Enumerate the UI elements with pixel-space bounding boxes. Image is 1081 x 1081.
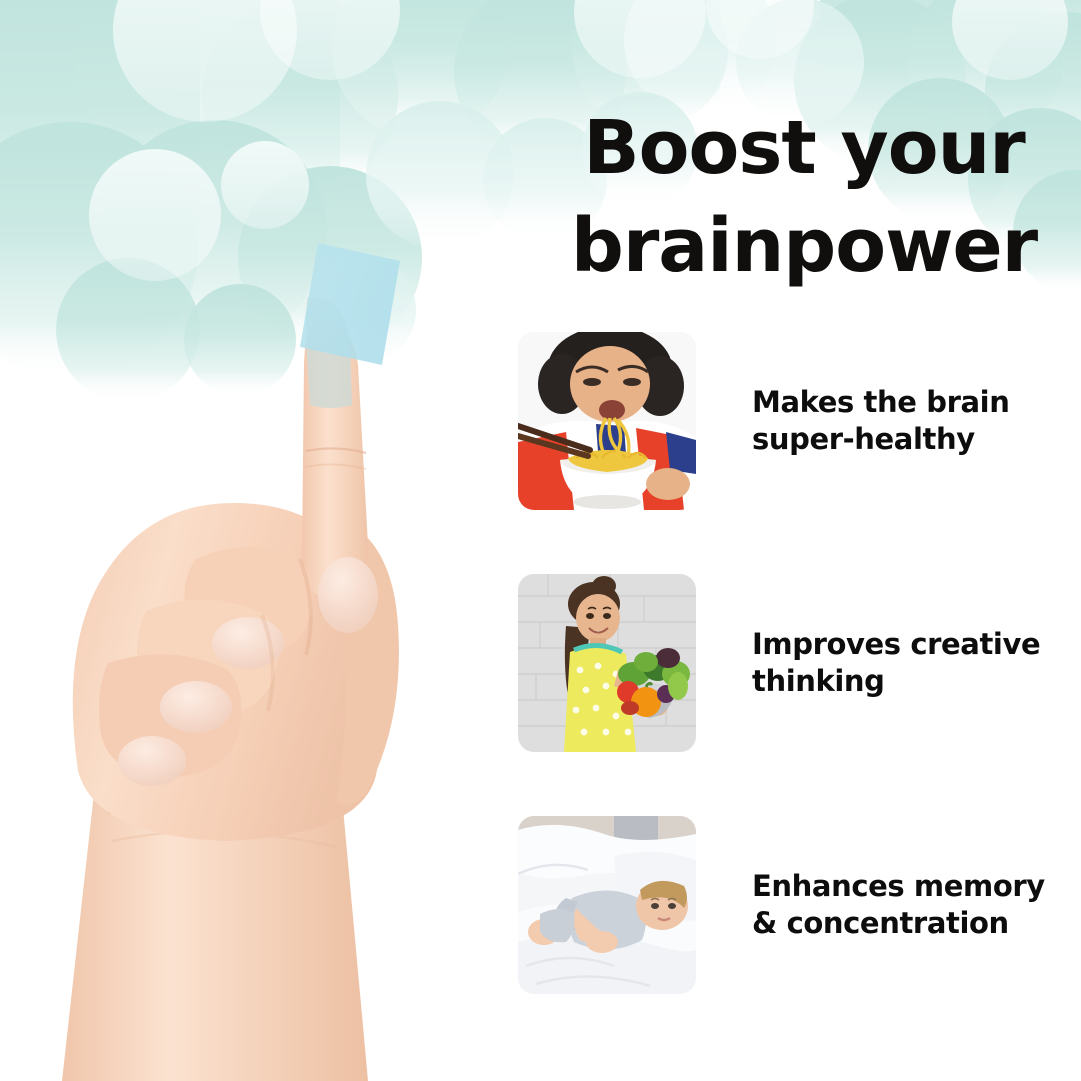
vegetables-photo-svg — [518, 574, 696, 752]
child-resting-in-bed-photo — [518, 816, 696, 994]
page-title: Boost your brainpower — [534, 100, 1074, 295]
poster-canvas: Boost your brainpower — [0, 0, 1081, 1081]
benefit-label-creative-thinking: Improves creative thinking — [752, 626, 1081, 700]
child-eating-noodles-photo — [518, 332, 696, 510]
benefit-label-memory-concentration: Enhances memory & concentration — [752, 868, 1081, 942]
content-column: Boost your brainpower — [518, 0, 1081, 1081]
benefit-item-brain-health: Makes the brain super-healthy — [518, 332, 1081, 510]
benefit-label-brain-health: Makes the brain super-healthy — [752, 384, 1081, 458]
hand-photo-svg — [0, 215, 470, 1081]
benefit-item-creative-thinking: Improves creative thinking — [518, 574, 1081, 752]
bed-photo-svg — [518, 816, 696, 994]
blue-vitamin-patch-shape — [300, 243, 400, 365]
benefit-item-memory-concentration: Enhances memory & concentration — [518, 816, 1081, 994]
benefits-list: Makes the brain super-healthy — [518, 332, 1081, 1058]
noodles-photo-svg — [518, 332, 696, 510]
girl-holding-vegetables-photo — [518, 574, 696, 752]
hand-illustration — [0, 215, 470, 1081]
